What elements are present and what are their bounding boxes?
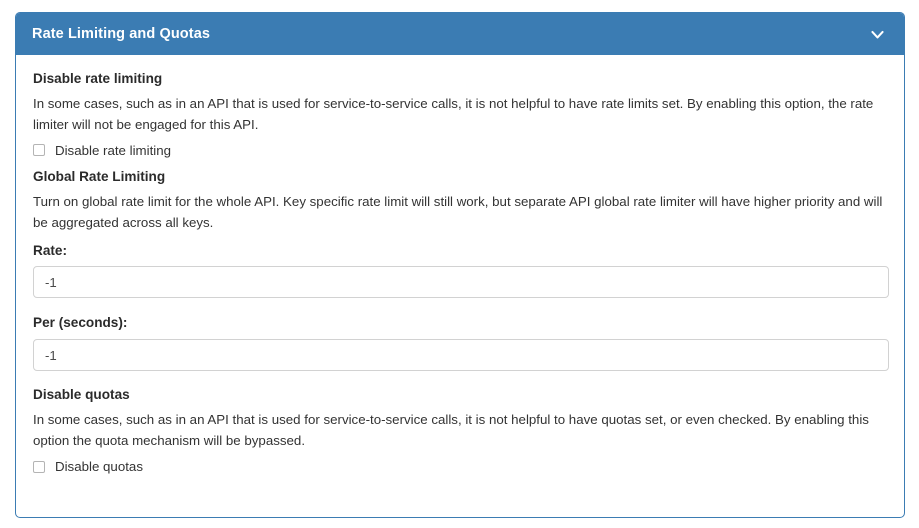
per-seconds-field-group: Per (seconds):	[33, 314, 887, 371]
disable-rate-limiting-checkbox[interactable]	[33, 144, 45, 156]
section-disable-quotas: Disable quotas In some cases, such as in…	[33, 386, 887, 475]
panel-body: Disable rate limiting In some cases, suc…	[16, 55, 904, 475]
disable-rate-limiting-heading: Disable rate limiting	[33, 70, 887, 88]
section-disable-rate-limiting: Disable rate limiting In some cases, suc…	[33, 70, 887, 159]
disable-rate-limiting-checkbox-label: Disable rate limiting	[55, 142, 171, 159]
disable-quotas-heading: Disable quotas	[33, 386, 887, 404]
per-seconds-input[interactable]	[33, 339, 889, 371]
section-global-rate-limiting: Global Rate Limiting Turn on global rate…	[33, 168, 887, 371]
rate-label: Rate:	[33, 242, 887, 260]
chevron-down-icon[interactable]	[869, 26, 886, 43]
disable-rate-limiting-description: In some cases, such as in an API that is…	[33, 94, 887, 134]
disable-quotas-checkbox[interactable]	[33, 461, 45, 473]
rate-field-group: Rate:	[33, 242, 887, 299]
disable-quotas-description: In some cases, such as in an API that is…	[33, 410, 887, 450]
disable-rate-limiting-checkbox-row[interactable]: Disable rate limiting	[33, 142, 887, 159]
global-rate-limiting-description: Turn on global rate limit for the whole …	[33, 192, 887, 232]
rate-limiting-and-quotas-panel: Rate Limiting and Quotas Disable rate li…	[15, 12, 905, 518]
global-rate-limiting-heading: Global Rate Limiting	[33, 168, 887, 186]
disable-quotas-checkbox-row[interactable]: Disable quotas	[33, 458, 887, 475]
per-seconds-label: Per (seconds):	[33, 314, 887, 332]
disable-quotas-checkbox-label: Disable quotas	[55, 458, 143, 475]
panel-title: Rate Limiting and Quotas	[32, 27, 210, 42]
panel-header[interactable]: Rate Limiting and Quotas	[16, 13, 904, 55]
rate-input[interactable]	[33, 266, 889, 298]
